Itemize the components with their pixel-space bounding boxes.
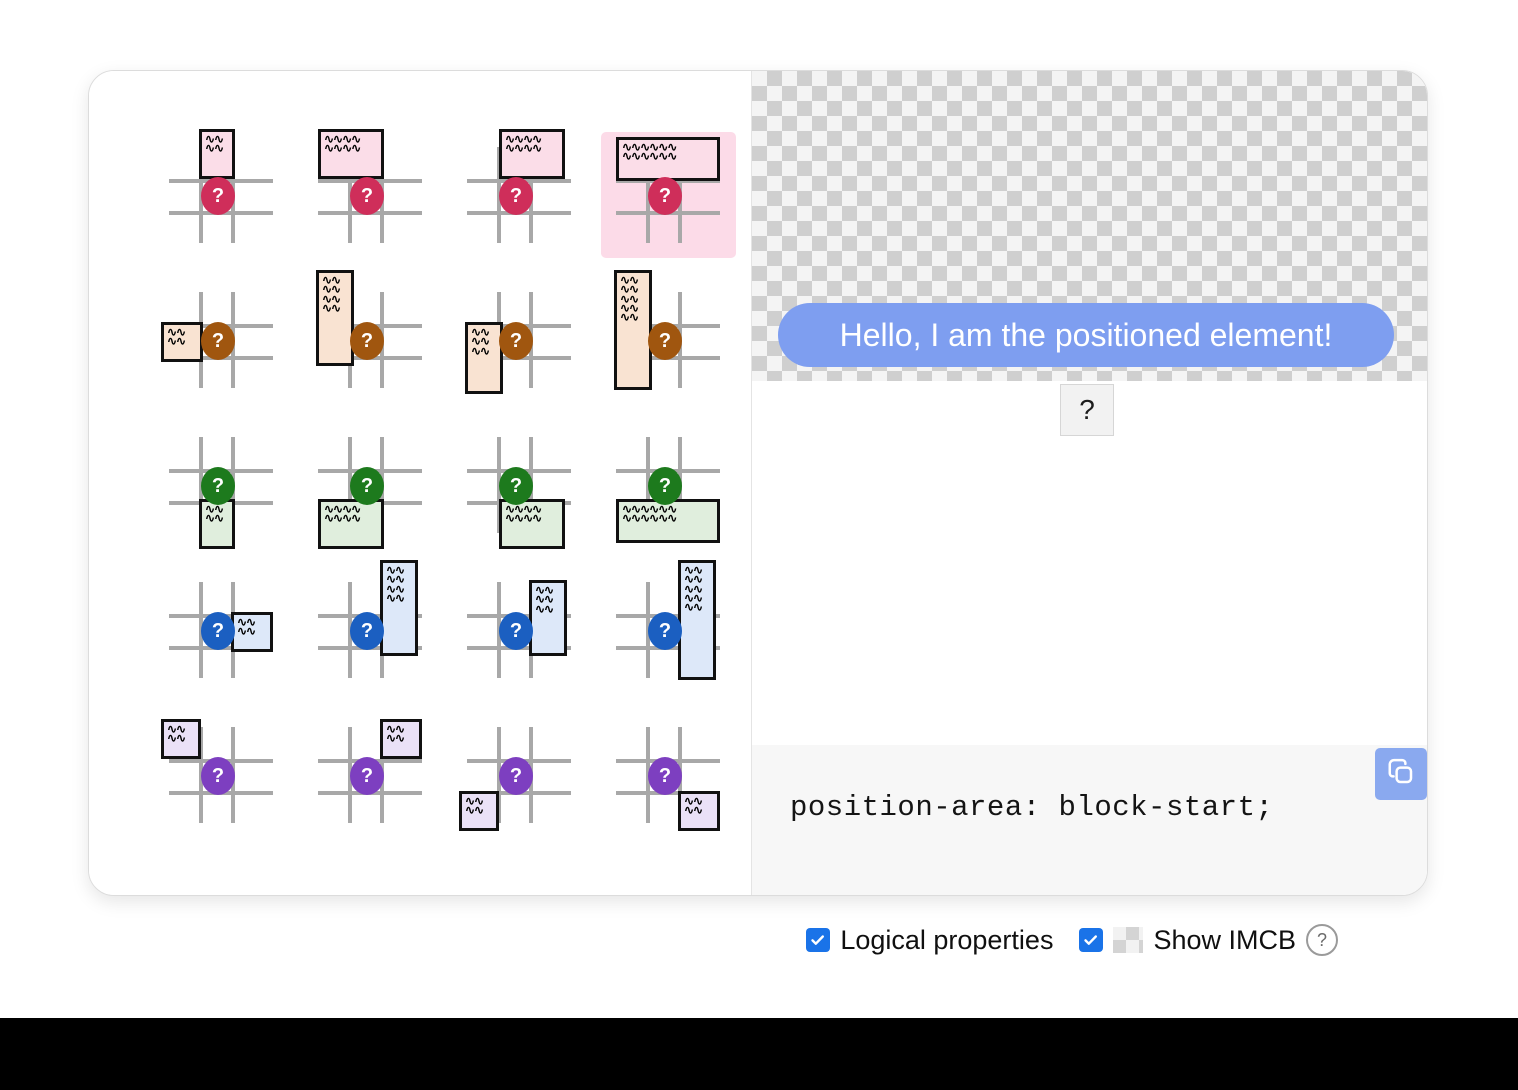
logical-properties-checkbox[interactable] [806,928,830,952]
preview-panel: Hello, I am the positioned element! ? po… [751,71,1428,896]
option-box-text: ∿∿ ∿∿ [465,797,483,816]
position-area-option[interactable]: ∿∿ ∿∿? [155,568,288,692]
position-area-option[interactable]: ∿∿ ∿∿? [155,278,288,402]
option-positioned-box: ∿∿ ∿∿ [678,791,720,831]
help-icon[interactable]: ? [1306,924,1338,956]
option-anchor-marker: ? [499,177,533,215]
option-positioned-box: ∿∿ ∿∿ ∿∿ ∿∿ [316,270,354,366]
option-anchor-marker: ? [499,467,533,505]
position-area-option[interactable]: ∿∿ ∿∿? [602,713,735,837]
controls-row: Logical properties Show IMCB ? [0,924,1428,956]
option-anchor-marker: ? [648,177,682,215]
position-area-option[interactable]: ∿∿ ∿∿ ∿∿ ∿∿? [304,568,437,692]
option-positioned-box: ∿∿ ∿∿ ∿∿ [529,580,567,656]
option-box-text: ∿∿∿∿ ∿∿∿∿ [324,505,360,524]
option-positioned-box: ∿∿ ∿∿ ∿∿ ∿∿ ∿∿ [678,560,716,680]
positioned-element: Hello, I am the positioned element! [778,303,1394,367]
copy-icon [1386,757,1416,792]
option-positioned-box: ∿∿ ∿∿ [459,791,499,831]
option-positioned-box: ∿∿∿∿∿∿ ∿∿∿∿∿∿ [616,137,720,181]
logical-properties-control[interactable]: Logical properties [806,925,1053,956]
option-box-text: ∿∿∿∿∿∿ ∿∿∿∿∿∿ [622,505,676,524]
css-declaration-text: position-area: block-start; [790,791,1273,824]
option-anchor-marker: ? [201,467,235,505]
option-positioned-box: ∿∿∿∿ ∿∿∿∿ [499,129,565,179]
bottom-bar [0,1018,1518,1090]
option-box-text: ∿∿ ∿∿ [205,135,223,154]
option-box-text: ∿∿ ∿∿ [167,328,185,347]
option-anchor-marker: ? [350,322,384,360]
position-area-option[interactable]: ∿∿∿∿∿∿ ∿∿∿∿∿∿? [602,423,735,547]
option-anchor-marker: ? [499,612,533,650]
option-box-text: ∿∿ ∿∿ [684,797,702,816]
option-positioned-box: ∿∿ ∿∿ [380,719,422,759]
code-panel: position-area: block-start; [752,745,1428,896]
option-positioned-box: ∿∿∿∿ ∿∿∿∿ [318,129,384,179]
option-box-text: ∿∿ ∿∿ [205,505,223,524]
option-box-text: ∿∿∿∿ ∿∿∿∿ [505,135,541,154]
option-positioned-box: ∿∿∿∿∿∿ ∿∿∿∿∿∿ [616,499,720,543]
option-anchor-marker: ? [350,757,384,795]
option-positioned-box: ∿∿ ∿∿ [199,129,235,179]
position-area-options-panel: ∿∿ ∿∿?∿∿∿∿ ∿∿∿∿?∿∿∿∿ ∿∿∿∿?∿∿∿∿∿∿ ∿∿∿∿∿∿?… [89,71,751,896]
option-positioned-box: ∿∿ ∿∿ ∿∿ ∿∿ [380,560,418,656]
option-anchor-marker: ? [499,757,533,795]
option-anchor-marker: ? [201,322,235,360]
option-positioned-box: ∿∿ ∿∿ [161,322,203,362]
position-area-option[interactable]: ∿∿∿∿ ∿∿∿∿? [304,133,437,257]
imcb-checkerboard-swatch-icon [1113,927,1143,953]
option-anchor-marker: ? [648,612,682,650]
option-anchor-marker: ? [648,757,682,795]
option-positioned-box: ∿∿ ∿∿ ∿∿ ∿∿ ∿∿ [614,270,652,390]
option-positioned-box: ∿∿ ∿∿ [161,719,201,759]
copy-button[interactable] [1375,748,1427,800]
option-anchor-marker: ? [350,177,384,215]
option-box-text: ∿∿ ∿∿ ∿∿ ∿∿ [322,276,340,313]
position-area-option[interactable]: ∿∿ ∿∿ ∿∿? [453,278,586,402]
show-imcb-checkbox[interactable] [1079,928,1103,952]
option-positioned-box: ∿∿ ∿∿ ∿∿ [465,322,503,394]
option-box-text: ∿∿ ∿∿ ∿∿ ∿∿ ∿∿ [684,566,702,613]
position-area-option[interactable]: ∿∿∿∿ ∿∿∿∿? [453,423,586,547]
show-imcb-control[interactable]: Show IMCB [1079,925,1296,956]
option-box-text: ∿∿∿∿ ∿∿∿∿ [324,135,360,154]
position-area-option[interactable]: ∿∿ ∿∿? [155,713,288,837]
option-anchor-marker: ? [499,322,533,360]
imcb-region: Hello, I am the positioned element! [752,71,1428,381]
option-box-text: ∿∿ ∿∿ [386,725,404,744]
position-area-option[interactable]: ∿∿ ∿∿? [155,423,288,547]
option-anchor-marker: ? [201,757,235,795]
position-area-option[interactable]: ∿∿ ∿∿? [453,713,586,837]
option-box-text: ∿∿ ∿∿ ∿∿ ∿∿ [386,566,404,603]
option-box-text: ∿∿ ∿∿ ∿∿ [471,328,489,356]
position-area-option[interactable]: ∿∿ ∿∿ ∿∿? [453,568,586,692]
option-anchor-marker: ? [648,322,682,360]
logical-properties-label: Logical properties [840,925,1053,956]
anchor-element[interactable]: ? [1060,384,1114,436]
option-positioned-box: ∿∿ ∿∿ [231,612,273,652]
option-anchor-marker: ? [201,177,235,215]
position-area-option[interactable]: ∿∿ ∿∿? [155,133,288,257]
option-box-text: ∿∿∿∿ ∿∿∿∿ [505,505,541,524]
position-area-option[interactable]: ∿∿∿∿∿∿ ∿∿∿∿∿∿? [602,133,735,257]
position-area-option[interactable]: ∿∿ ∿∿ ∿∿ ∿∿ ∿∿? [602,278,735,402]
option-box-text: ∿∿ ∿∿ ∿∿ ∿∿ ∿∿ [620,276,638,323]
option-positioned-box: ∿∿ ∿∿ [199,499,235,549]
option-anchor-marker: ? [350,612,384,650]
position-area-options-grid: ∿∿ ∿∿?∿∿∿∿ ∿∿∿∿?∿∿∿∿ ∿∿∿∿?∿∿∿∿∿∿ ∿∿∿∿∿∿?… [155,133,735,837]
position-area-option[interactable]: ∿∿ ∿∿ ∿∿ ∿∿? [304,278,437,402]
option-box-text: ∿∿ ∿∿ [237,618,255,637]
position-area-option[interactable]: ∿∿∿∿ ∿∿∿∿? [304,423,437,547]
option-positioned-box: ∿∿∿∿ ∿∿∿∿ [318,499,384,549]
option-anchor-marker: ? [350,467,384,505]
position-area-option[interactable]: ∿∿ ∿∿? [304,713,437,837]
option-anchor-marker: ? [648,467,682,505]
position-area-option[interactable]: ∿∿ ∿∿ ∿∿ ∿∿ ∿∿? [602,568,735,692]
position-area-option[interactable]: ∿∿∿∿ ∿∿∿∿? [453,133,586,257]
show-imcb-label: Show IMCB [1153,925,1296,956]
option-anchor-marker: ? [201,612,235,650]
position-area-visualizer-card: ∿∿ ∿∿?∿∿∿∿ ∿∿∿∿?∿∿∿∿ ∿∿∿∿?∿∿∿∿∿∿ ∿∿∿∿∿∿?… [88,70,1428,896]
option-box-text: ∿∿∿∿∿∿ ∿∿∿∿∿∿ [622,143,676,162]
option-positioned-box: ∿∿∿∿ ∿∿∿∿ [499,499,565,549]
option-box-text: ∿∿ ∿∿ ∿∿ [535,586,553,614]
option-box-text: ∿∿ ∿∿ [167,725,185,744]
